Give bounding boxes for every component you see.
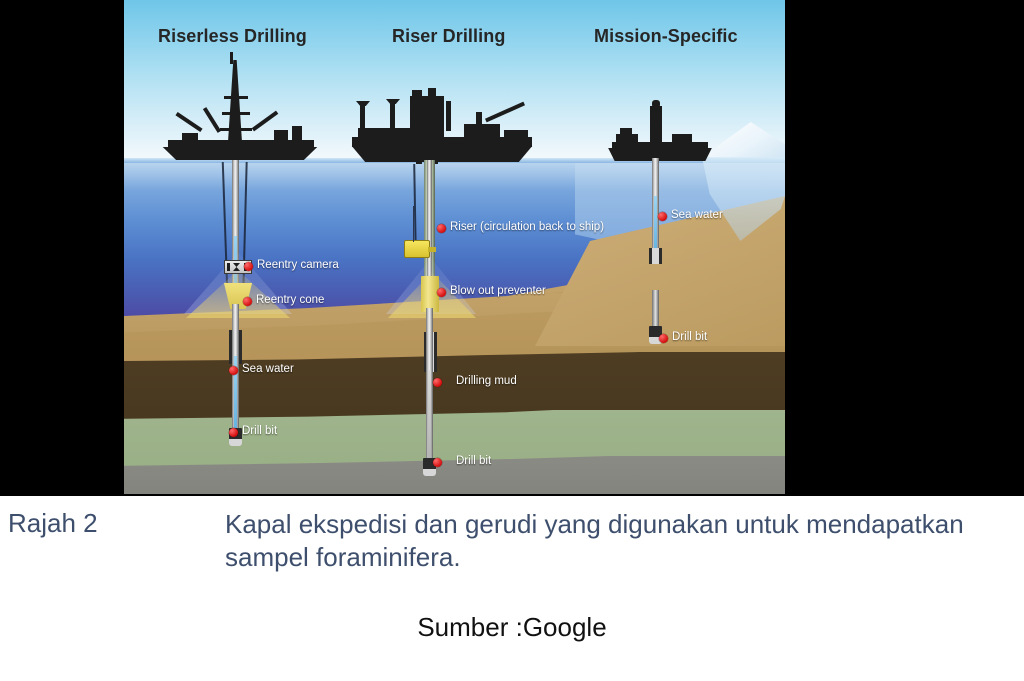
casing-mission — [649, 248, 662, 264]
seawater-flow-mission — [654, 196, 657, 256]
marker-drill-bit-middle — [433, 458, 442, 467]
slide-page: Riserless Drilling Riser Drilling Missio… — [0, 0, 1024, 681]
column-title-riserless: Riserless Drilling — [158, 26, 307, 47]
marker-reentry-camera — [244, 262, 253, 271]
rov-unit — [404, 240, 430, 258]
marker-drill-bit-right — [659, 334, 668, 343]
label-reentry-camera: Reentry camera — [257, 259, 339, 271]
label-reentry-cone: Reentry cone — [256, 294, 324, 306]
label-drill-bit-right: Drill bit — [672, 331, 707, 343]
label-riser: Riser (circulation back to ship) — [450, 221, 604, 233]
label-blow-out-preventer: Blow out preventer — [450, 285, 546, 297]
label-drilling-mud: Drilling mud — [456, 375, 517, 387]
marker-drilling-mud — [433, 378, 442, 387]
rov-tether — [413, 206, 414, 242]
drilling-methods-diagram: Riserless Drilling Riser Drilling Missio… — [124, 0, 785, 494]
marker-reentry-cone — [243, 297, 252, 306]
rov-arm — [428, 247, 436, 252]
marker-drill-bit-left — [229, 428, 238, 437]
label-sea-water-left: Sea water — [242, 363, 294, 375]
geologic-strata — [124, 0, 785, 494]
column-title-riser: Riser Drilling — [392, 26, 505, 47]
label-drill-bit-middle: Drill bit — [456, 455, 491, 467]
caption-label: Rajah 2 — [8, 508, 98, 539]
drilling-mud-flow — [428, 370, 431, 466]
marker-sea-water-right — [658, 212, 667, 221]
figure-caption: Rajah 2 Kapal ekspedisi dan gerudi yang … — [0, 505, 1024, 595]
reentry-camera-bar-1 — [227, 263, 230, 271]
label-drill-bit-left: Drill bit — [242, 425, 277, 437]
marker-blow-out-preventer — [437, 288, 446, 297]
source-attribution: Sumber :Google — [0, 612, 1024, 643]
marker-sea-water-left — [229, 366, 238, 375]
label-sea-water-right: Sea water — [671, 209, 723, 221]
marker-riser — [437, 224, 446, 233]
column-title-mission-specific: Mission-Specific — [594, 26, 738, 47]
caption-text: Kapal ekspedisi dan gerudi yang digunaka… — [225, 508, 985, 575]
